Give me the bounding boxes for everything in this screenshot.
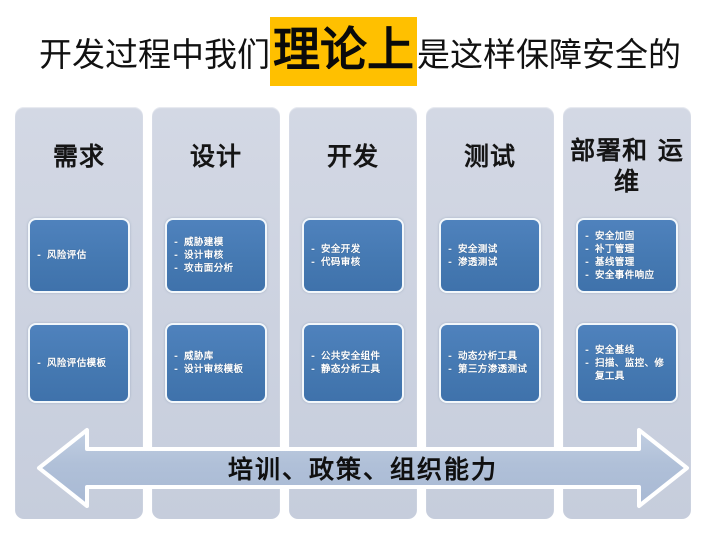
stage-asset-card[interactable]: 动态分析工具 第三方渗透测试: [439, 323, 541, 403]
stage-activity-card[interactable]: 安全测试 渗透测试: [439, 218, 541, 293]
list-item: 设计审核: [171, 249, 262, 262]
stage-asset-card[interactable]: 公共安全组件 静态分析工具: [302, 323, 404, 403]
page-title-highlight: 理论上: [270, 17, 417, 86]
list-item: 基线管理: [582, 256, 673, 269]
stage-activity-card[interactable]: 威胁建模 设计审核 攻击面分析: [165, 218, 267, 293]
stage-title: 需求: [19, 141, 139, 172]
list-item: 动态分析工具: [445, 350, 536, 363]
list-item: 风险评估: [34, 249, 125, 262]
stage-asset-card[interactable]: 风险评估模板: [28, 323, 130, 403]
list-item: 公共安全组件: [308, 350, 399, 363]
stage-title: 设计: [156, 141, 276, 172]
list-item: 代码审核: [308, 256, 399, 269]
page-title: 开发过程中我们理论上是这样保障安全的: [0, 18, 720, 92]
asset-list: 风险评估模板: [34, 357, 125, 370]
asset-list: 安全基线 扫描、监控、修复工具: [582, 344, 673, 383]
capability-arrow-label: 培训、政策、组织能力: [35, 425, 691, 511]
activity-list: 安全加固 补丁管理 基线管理 安全事件响应: [582, 230, 673, 282]
list-item: 安全加固: [582, 230, 673, 243]
stage-title: 开发: [293, 141, 413, 172]
stage-activity-card[interactable]: 安全开发 代码审核: [302, 218, 404, 293]
sdl-lifecycle-diagram: 需求 风险评估 风险评估模板 设计 威胁建模 设计审核 攻击面分析: [15, 107, 691, 519]
list-item: 安全基线: [582, 344, 673, 357]
stage-asset-card[interactable]: 威胁库 设计审核模板: [165, 323, 267, 403]
asset-list: 公共安全组件 静态分析工具: [308, 350, 399, 376]
list-item: 威胁建模: [171, 236, 262, 249]
activity-list: 风险评估: [34, 249, 125, 262]
activity-list: 安全测试 渗透测试: [445, 243, 536, 269]
list-item: 补丁管理: [582, 243, 673, 256]
stage-title: 部署和 运维: [567, 135, 687, 197]
asset-list: 动态分析工具 第三方渗透测试: [445, 350, 536, 376]
asset-list: 威胁库 设计审核模板: [171, 350, 262, 376]
page-title-suffix: 是这样保障安全的: [417, 35, 681, 74]
stage-activity-card[interactable]: 风险评估: [28, 218, 130, 293]
activity-list: 威胁建模 设计审核 攻击面分析: [171, 236, 262, 275]
page-title-prefix: 开发过程中我们: [39, 35, 270, 74]
list-item: 扫描、监控、修复工具: [582, 357, 673, 383]
list-item: 威胁库: [171, 350, 262, 363]
list-item: 安全开发: [308, 243, 399, 256]
list-item: 攻击面分析: [171, 262, 262, 275]
stage-title: 测试: [430, 141, 550, 172]
list-item: 设计审核模板: [171, 363, 262, 376]
list-item: 风险评估模板: [34, 357, 125, 370]
capability-arrow: 培训、政策、组织能力: [35, 425, 691, 511]
stage-asset-card[interactable]: 安全基线 扫描、监控、修复工具: [576, 323, 678, 403]
list-item: 第三方渗透测试: [445, 363, 536, 376]
list-item: 静态分析工具: [308, 363, 399, 376]
list-item: 安全测试: [445, 243, 536, 256]
activity-list: 安全开发 代码审核: [308, 243, 399, 269]
list-item: 安全事件响应: [582, 269, 673, 282]
stage-activity-card[interactable]: 安全加固 补丁管理 基线管理 安全事件响应: [576, 218, 678, 293]
list-item: 渗透测试: [445, 256, 536, 269]
